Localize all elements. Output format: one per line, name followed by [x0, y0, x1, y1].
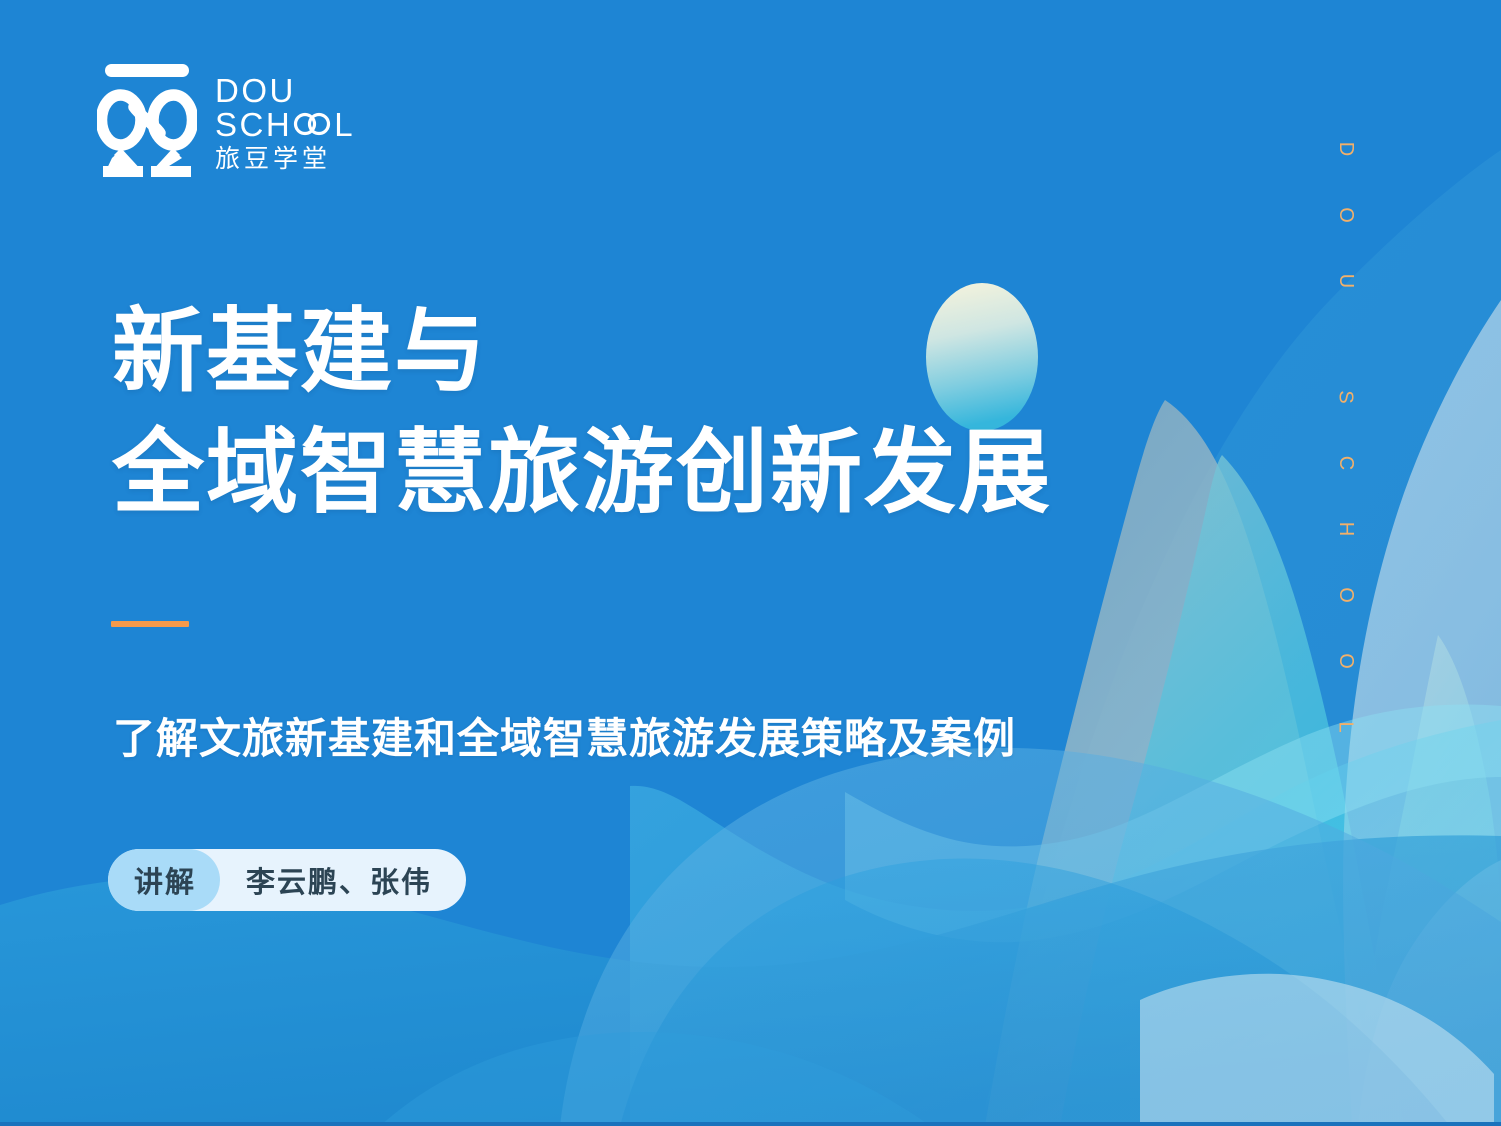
presenter-names: 李云鹏、张伟 [220, 849, 466, 911]
logo-line-dou: DOU [215, 74, 355, 108]
brand-logo[interactable]: DOU SCH L 旅豆学堂 [97, 62, 355, 180]
dou-school-infinity-icon [97, 62, 197, 180]
slide-subtitle: 了解文旅新基建和全域智慧旅游发展策略及案例 [113, 705, 1016, 766]
side-letter-5: H [1336, 522, 1356, 538]
slide-title-line-2: 全域智慧旅游创新发展 [112, 413, 1052, 534]
side-letter-7: O [1336, 653, 1356, 671]
accent-divider [111, 621, 189, 627]
presenter-badge: 讲解 李云鹏、张伟 [108, 849, 466, 911]
brand-logo-wordmark: DOU SCH L 旅豆学堂 [215, 74, 355, 173]
presentation-title-slide: DOU SCH L 旅豆学堂 D O U S C H O O L 新基建与 全域… [0, 0, 1501, 1126]
logo-school-prefix: SCH [215, 108, 292, 142]
side-letter-2: U [1336, 274, 1356, 290]
side-letter-8: L [1336, 721, 1356, 734]
presenter-role-label: 讲解 [108, 849, 220, 911]
logo-chinese-name: 旅豆学堂 [215, 147, 355, 173]
vertical-brand-word: D O U S C H O O L [1329, 140, 1363, 784]
logo-interlocked-oo-icon [293, 111, 333, 137]
logo-line-school: SCH L [215, 108, 355, 142]
side-letter-6: O [1336, 587, 1356, 605]
slide-title-line-1: 新基建与 [112, 301, 488, 403]
side-letter-1: O [1336, 207, 1356, 225]
side-letter-3: S [1336, 390, 1356, 405]
logo-school-suffix: L [334, 108, 355, 142]
side-letter-4: C [1336, 456, 1356, 472]
slide-title: 新基建与 全域智慧旅游创新发展 [112, 292, 1052, 535]
bottom-edge-strip [0, 1122, 1501, 1126]
side-letter-0: D [1336, 142, 1356, 158]
